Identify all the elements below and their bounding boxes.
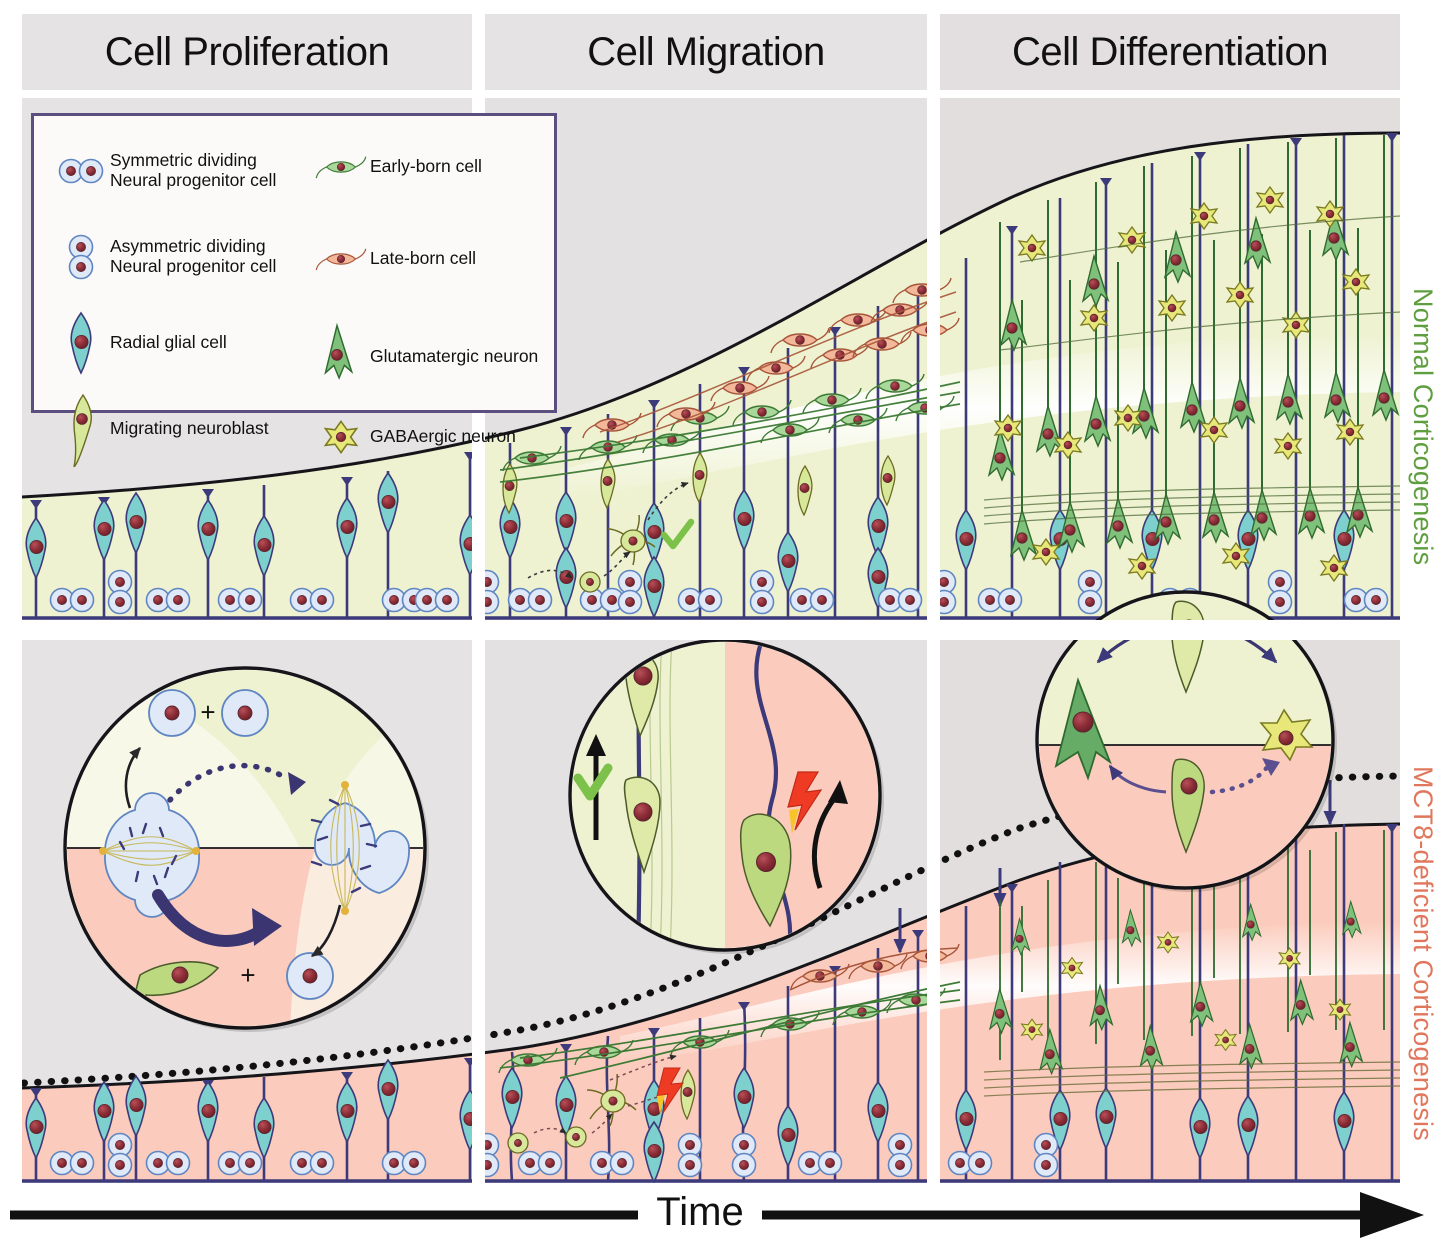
top-margin (0, 0, 1440, 14)
legend-item-gabaergic: GABAergic neuron (312, 408, 554, 466)
legend-item-migrating-neuroblast: Migrating neuroblast (52, 388, 310, 470)
symmetric-dividing-cell-icon (52, 130, 110, 212)
time-axis-label: Time (640, 1190, 760, 1235)
row-label-normal-corticogenesis: Normal Corticogenesis (1407, 288, 1438, 565)
legend-item-radial-glial: Radial glial cell (52, 302, 310, 384)
inset-migration[interactable] (570, 640, 885, 954)
early-born-cell-icon (312, 138, 370, 196)
late-born-cell-icon (312, 230, 370, 288)
asymmetric-dividing-cell-icon (52, 216, 110, 298)
legend-label-asymmetric-progenitor: Asymmetric dividingNeural progenitor cel… (110, 237, 276, 277)
figure-canvas: Cell Proliferation Cell Migration Cell D… (0, 0, 1440, 1247)
legend-item-symmetric-progenitor: Symmetric dividingNeural progenitor cell (52, 130, 310, 212)
legend-label-migrating-neuroblast: Migrating neuroblast (110, 419, 269, 439)
normal-round-neuroblast (580, 572, 600, 592)
legend-item-asymmetric-progenitor: Asymmetric dividingNeural progenitor cel… (52, 216, 310, 298)
legend-label-gabaergic: GABAergic neuron (370, 427, 516, 447)
inset-proliferation[interactable]: + (60, 660, 440, 1048)
legend-label-glutamatergic: Glutamatergic neuron (370, 347, 538, 367)
legend-item-early-born: Early-born cell (312, 138, 554, 196)
inset1-plus-top: + (200, 697, 215, 727)
legend-item-late-born: Late-born cell (312, 230, 554, 288)
inset1-plus-bottom: + (240, 960, 255, 990)
row-label-mct8-corticogenesis: MCT8-deficient Corticogenesis (1407, 766, 1438, 1141)
legend-label-radial-glial: Radial glial cell (110, 333, 227, 353)
radial-glial-cell-icon (52, 302, 110, 384)
legend-item-glutamatergic: Glutamatergic neuron (312, 316, 554, 398)
legend-label-late-born: Late-born cell (370, 249, 476, 269)
legend-column-left: Symmetric dividingNeural progenitor cell… (52, 130, 310, 474)
legend-column-right: Early-born cell Late-born cell Glutamate… (312, 130, 554, 470)
legend-box: Symmetric dividingNeural progenitor cell… (31, 113, 557, 413)
row-gap (0, 620, 1440, 640)
column-gap-2 (927, 0, 940, 1183)
glutamatergic-neuron-icon (312, 316, 370, 398)
gabaergic-neuron-icon (312, 408, 370, 466)
migrating-neuroblast-icon (52, 388, 110, 470)
header-gap (0, 90, 1440, 98)
legend-label-symmetric-progenitor: Symmetric dividingNeural progenitor cell (110, 151, 276, 191)
time-axis-arrowhead (1360, 1192, 1424, 1238)
legend-label-early-born: Early-born cell (370, 157, 482, 177)
left-margin (0, 0, 22, 1183)
